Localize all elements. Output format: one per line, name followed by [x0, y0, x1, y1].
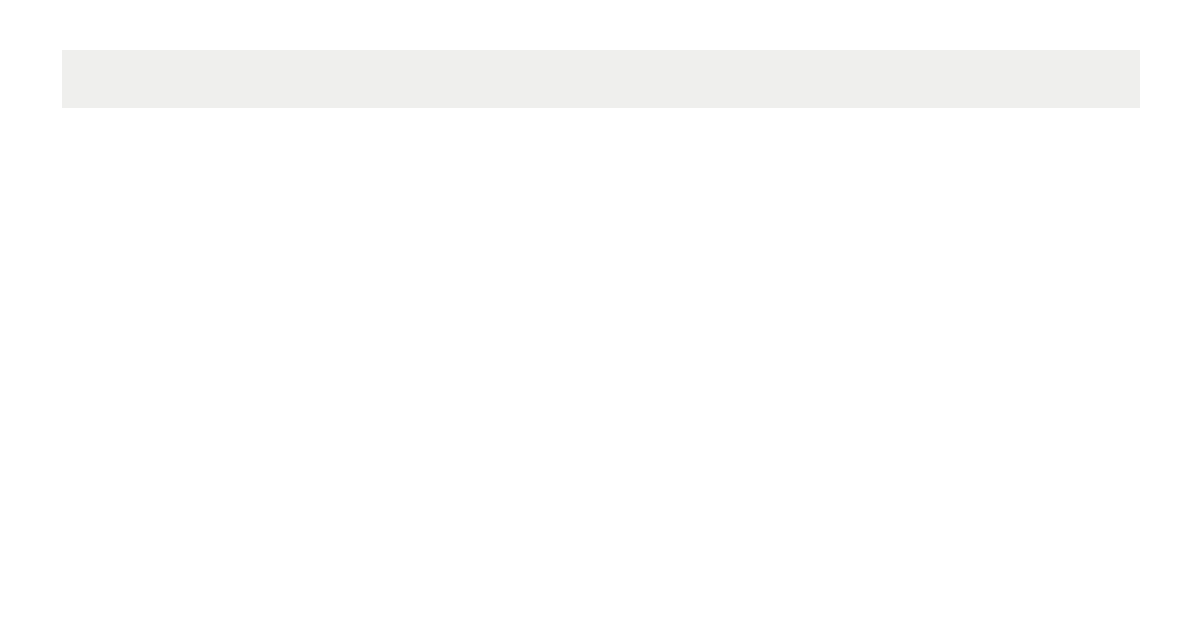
slide-canvas [0, 0, 1180, 618]
mindmap [0, 0, 1180, 618]
